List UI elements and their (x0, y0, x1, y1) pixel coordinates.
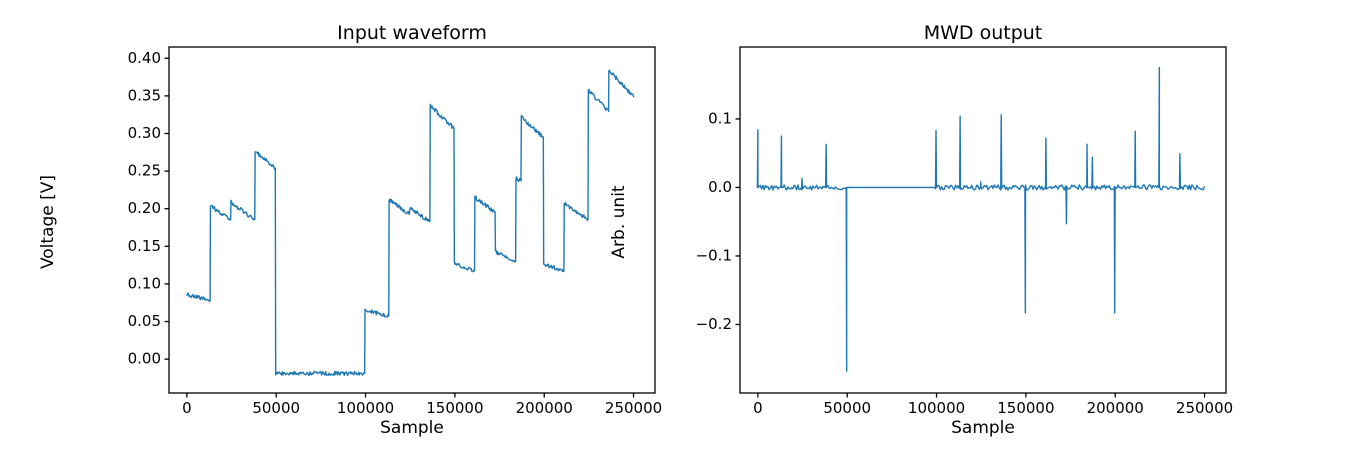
right-chart-yticklabel: 0.1 (708, 109, 732, 127)
right-chart-xticklabel: 150000 (997, 399, 1054, 417)
right-chart-yticklabel: −0.1 (696, 246, 732, 264)
right-chart-xlabel: Sample (740, 418, 1226, 438)
right-chart-xticklabel: 250000 (1176, 399, 1233, 417)
right-chart-axes-frame (740, 47, 1226, 393)
right-chart-xticklabel: 50000 (823, 399, 871, 417)
right-chart-ylabel: Arb. unit (609, 122, 629, 322)
matplotlib-figure: Input waveform 0500001000001500002000002… (0, 0, 1350, 450)
right-chart-series-mwd (757, 68, 1204, 372)
right-chart-xticklabel: 100000 (908, 399, 965, 417)
right-chart-xticklabel: 200000 (1087, 399, 1144, 417)
right-chart-plot: 050000100000150000200000250000−0.2−0.10.… (0, 0, 1350, 450)
right-chart-yticklabel: −0.2 (696, 315, 732, 333)
right-chart-yticklabel: 0.0 (708, 178, 732, 196)
right-chart-xticklabel: 0 (753, 399, 763, 417)
